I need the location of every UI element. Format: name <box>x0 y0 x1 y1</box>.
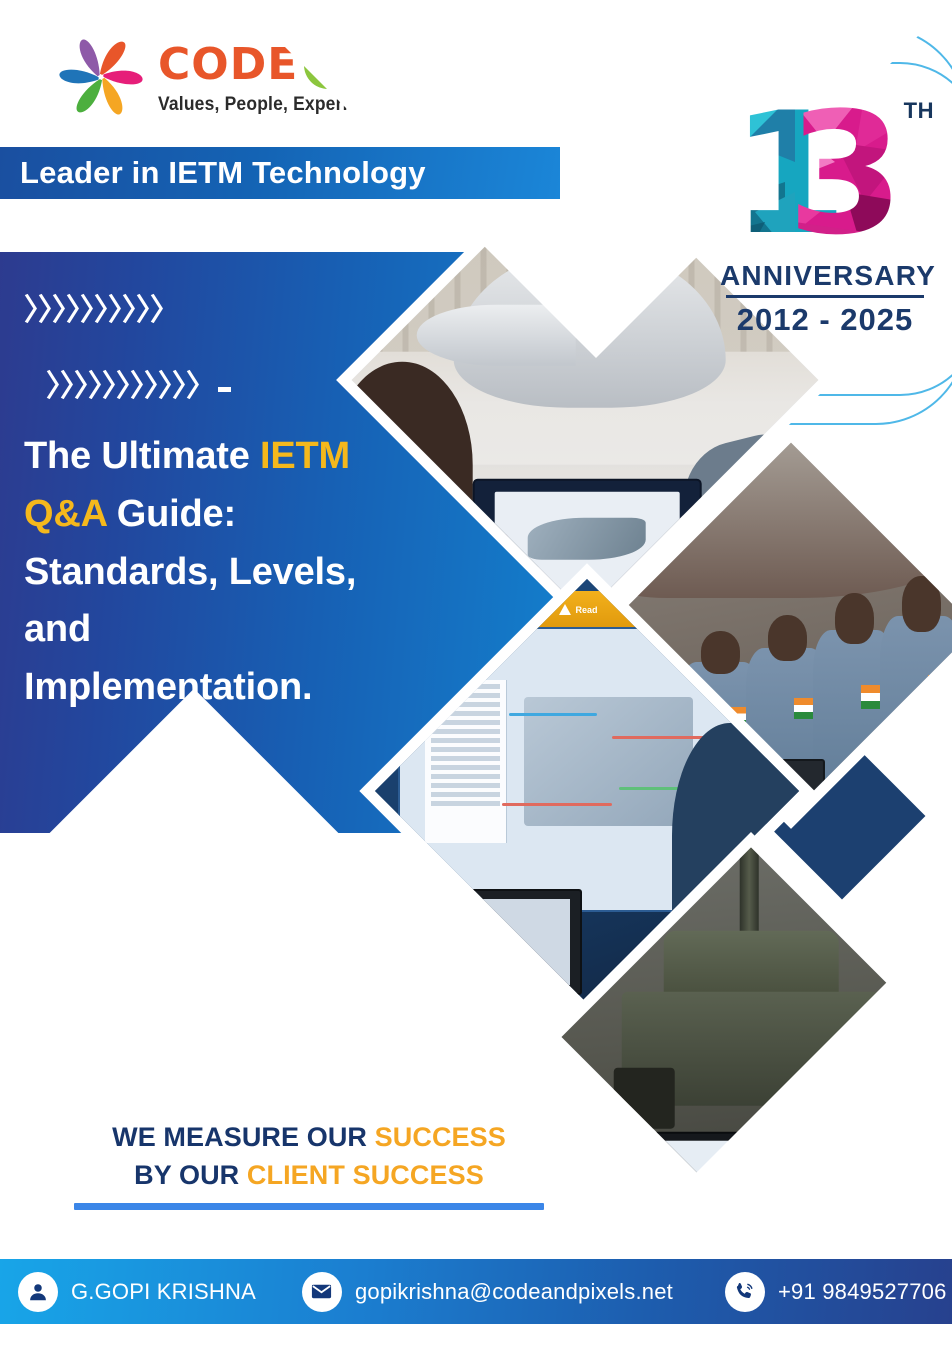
pinwheel-logo-icon <box>58 34 144 120</box>
anniversary-label: ANNIVERSARY <box>720 262 930 290</box>
tagline-line2-navy: BY OUR <box>134 1160 247 1190</box>
brand-name-code: CODE <box>158 43 298 87</box>
anniversary-divider <box>726 295 924 298</box>
tagline-line2-accent: CLIENT SUCCESS <box>247 1160 484 1190</box>
contact-phone: +91 9849527706 <box>778 1279 947 1305</box>
contact-footer-bar: G.GOPI KRISHNA gopikrishna@codeandpixels… <box>0 1259 952 1324</box>
contact-email: gopikrishna@codeandpixels.net <box>355 1279 673 1305</box>
title-segment-2: Guide: <box>106 493 236 535</box>
tagline-underline <box>74 1203 544 1210</box>
page-title: The Ultimate IETM Q&A Guide: Standards, … <box>24 428 444 717</box>
contact-name-group[interactable]: G.GOPI KRISHNA <box>18 1272 256 1312</box>
title-segment-5: Implementation. <box>24 666 312 708</box>
anniversary-badge: 1 3 <box>720 92 930 338</box>
tagline-line-2: BY OUR CLIENT SUCCESS <box>74 1157 544 1195</box>
tagline-line1-accent: SUCCESS <box>375 1122 506 1152</box>
leader-banner: Leader in IETM Technology <box>0 147 560 199</box>
chevron-row-2-glyphs: 〉〉〉〉〉〉〉〉〉〉〉 <box>46 369 215 404</box>
leader-banner-label: Leader in IETM Technology <box>0 155 426 191</box>
anniversary-number-graphic: 1 3 <box>720 92 930 260</box>
title-accent-ietm: IETM <box>260 435 350 477</box>
title-segment-4: and <box>24 608 91 650</box>
title-accent-qa: Q&A <box>24 493 106 535</box>
person-icon <box>18 1272 58 1312</box>
phone-icon <box>725 1272 765 1312</box>
anniversary-years: 2012 - 2025 <box>720 302 930 338</box>
title-segment-1: The Ultimate <box>24 435 260 477</box>
contact-name: G.GOPI KRISHNA <box>71 1279 256 1305</box>
title-segment-3: Standards, Levels, <box>24 551 356 593</box>
envelope-icon <box>302 1272 342 1312</box>
contact-phone-group[interactable]: +91 9849527706 <box>725 1272 947 1312</box>
poster-page: CODE & PIXELS Values, People, Experience… <box>0 0 952 1347</box>
contact-email-group[interactable]: gopikrishna@codeandpixels.net <box>302 1272 673 1312</box>
anniversary-ordinal: TH <box>904 98 934 124</box>
tagline-line1-navy: WE MEASURE OUR <box>112 1122 375 1152</box>
success-tagline: WE MEASURE OUR SUCCESS BY OUR CLIENT SUC… <box>74 1119 544 1210</box>
chevron-row-1-icon: 〉〉〉〉〉〉〉〉〉〉 <box>24 296 444 326</box>
tagline-line-1: WE MEASURE OUR SUCCESS <box>74 1119 544 1157</box>
chevron-dash-icon <box>218 387 231 392</box>
